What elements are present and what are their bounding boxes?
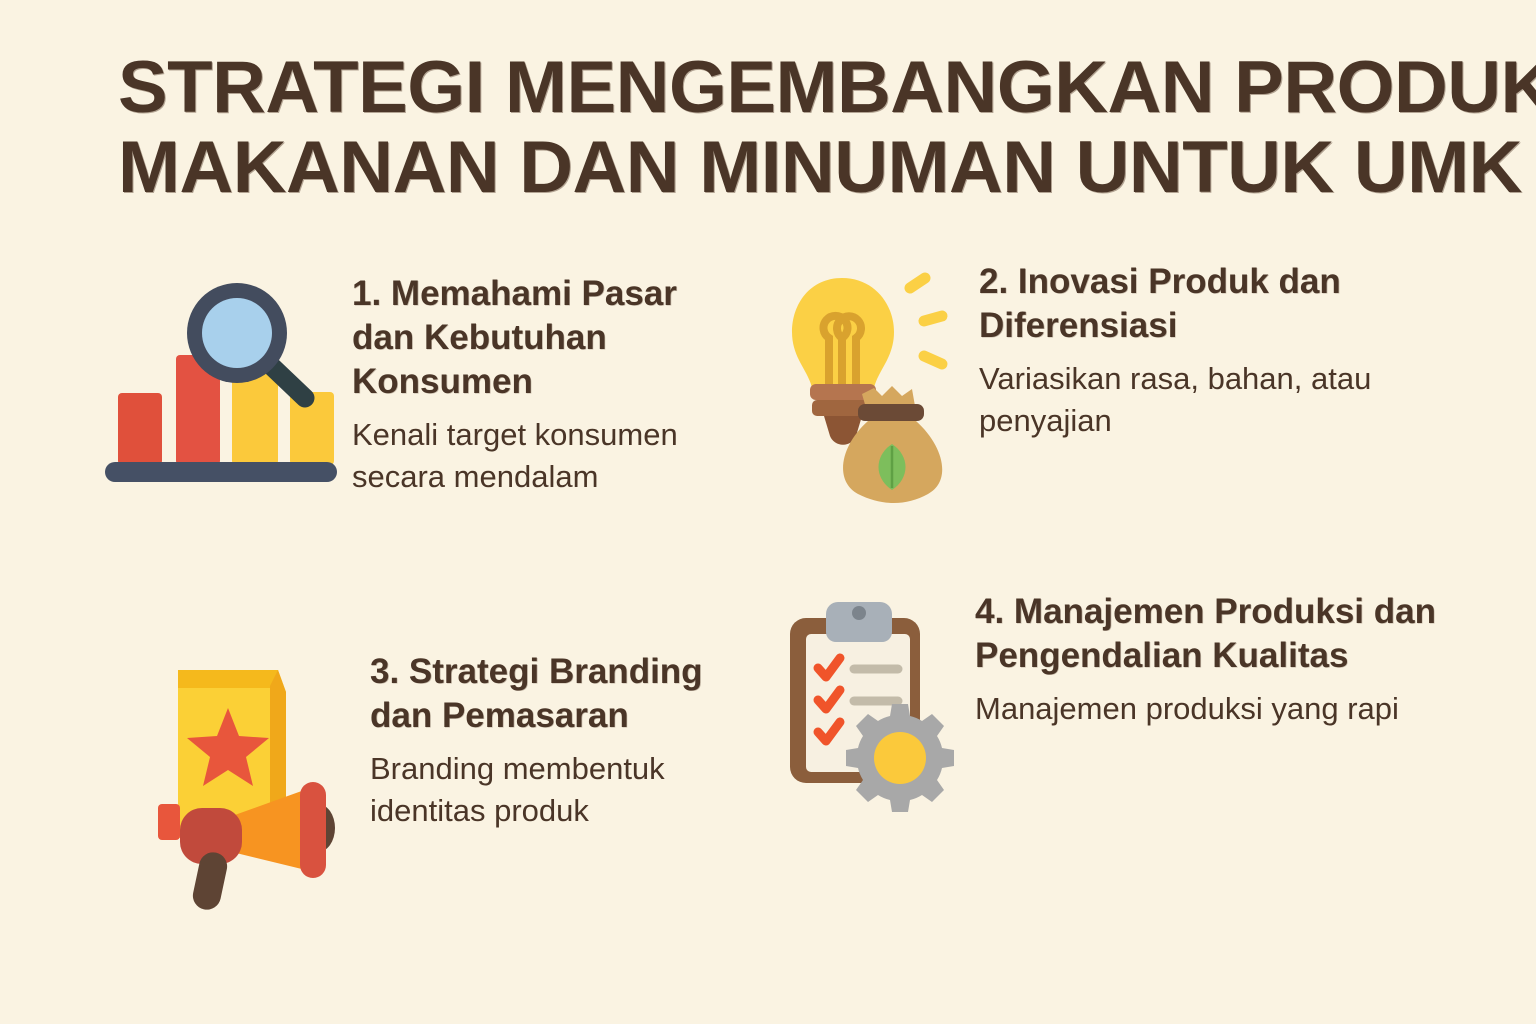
lightbulb-money-bag-icon [782,266,957,506]
page-title: STRATEGI MENGEMBANGKAN PRODUK MAKANAN DA… [118,48,1488,208]
item-4-description: Manajemen produksi yang rapi [975,688,1495,730]
item-2-description: Variasikan rasa, bahan, atau penyajian [979,358,1379,442]
item-4-text: 4. Manajemen Produksi dan Pengendalian K… [957,590,1495,730]
clipboard-checklist-gear-icon [782,596,957,811]
bar-chart-magnifier-icon [100,280,330,495]
item-3-title: 3. Strategi Branding dan Pemasaran [370,650,770,738]
product-bag-megaphone-icon [140,656,350,906]
list-item-1: 1. Memahami Pasar dan Kebutuhan Konsumen… [100,272,760,498]
item-3-text: 3. Strategi Branding dan Pemasaran Brand… [350,650,770,832]
list-item-3: 3. Strategi Branding dan Pemasaran Brand… [140,650,780,906]
title-line-1: STRATEGI MENGEMBANGKAN PRODUK [118,48,1515,128]
list-item-2: 2. Inovasi Produk dan Diferensiasi Varia… [782,260,1482,506]
infographic-poster: STRATEGI MENGEMBANGKAN PRODUK MAKANAN DA… [0,0,1536,1024]
item-2-title: 2. Inovasi Produk dan Diferensiasi [979,260,1379,348]
title-line-2: MAKANAN DAN MINUMAN UNTUK UMK [118,128,1515,208]
item-4-title: 4. Manajemen Produksi dan Pengendalian K… [975,590,1495,678]
item-2-text: 2. Inovasi Produk dan Diferensiasi Varia… [957,260,1379,442]
item-1-title: 1. Memahami Pasar dan Kebutuhan Konsumen [352,272,692,404]
items-grid: 1. Memahami Pasar dan Kebutuhan Konsumen… [0,250,1536,1020]
item-3-description: Branding membentuk identitas produk [370,748,770,832]
item-1-description: Kenali target konsumen secara mendalam [352,414,692,498]
item-1-text: 1. Memahami Pasar dan Kebutuhan Konsumen… [330,272,692,498]
list-item-4: 4. Manajemen Produksi dan Pengendalian K… [782,590,1502,811]
